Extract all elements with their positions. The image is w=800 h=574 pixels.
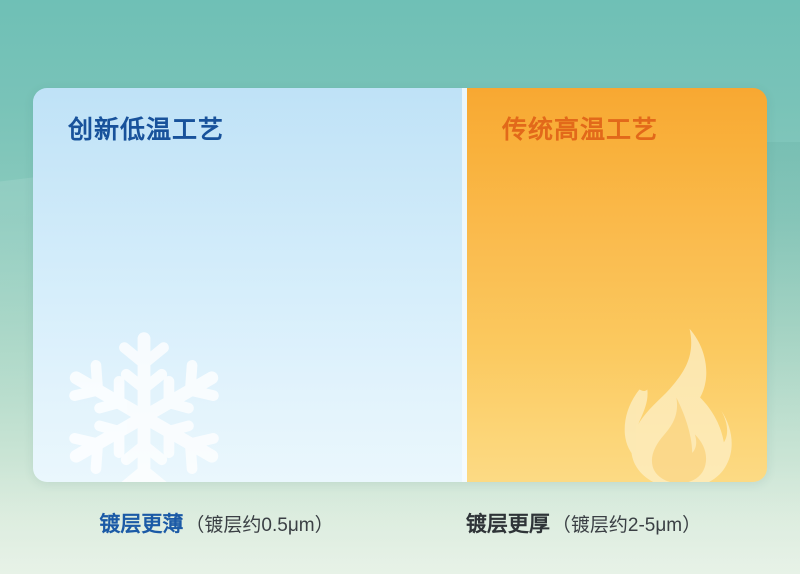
comparison-card: 创新低温工艺 [33,88,767,482]
caption-row: 镀层更薄 （镀层约0.5μm） 镀层更厚 （镀层约2-5μm） [33,500,767,546]
caption-hot-sub: （镀层约2-5μm） [552,510,701,537]
comparison-infographic: 创新低温工艺 [0,0,800,574]
panel-hot-process: 传统高温工艺 [467,88,767,482]
panel-hot-title: 传统高温工艺 [502,110,658,146]
caption-cold-sub: （镀层约0.5μm） [185,510,333,537]
snowflake-icon [55,328,233,482]
caption-hot: 镀层更厚 （镀层约2-5μm） [400,500,767,546]
caption-cold: 镀层更薄 （镀层约0.5μm） [33,500,400,546]
panel-cold-title: 创新低温工艺 [68,110,224,146]
caption-cold-main: 镀层更薄 [99,508,183,538]
panel-cold-process: 创新低温工艺 [33,88,462,482]
flame-icon [613,326,745,482]
caption-hot-main: 镀层更厚 [466,508,550,538]
